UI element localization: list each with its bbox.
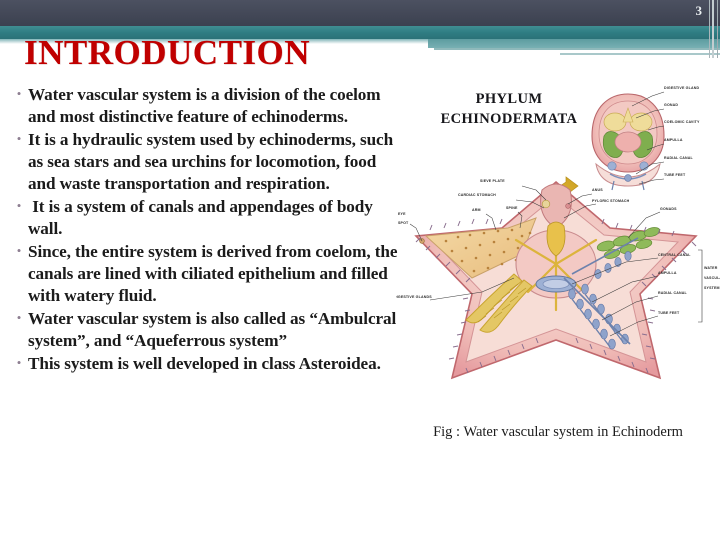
list-item: • Water vascular system is a division of… bbox=[10, 84, 402, 128]
echinoderm-figure: PHYLUM ECHINODERMATA bbox=[396, 78, 720, 438]
bullet-text: Water vascular system is a division of t… bbox=[28, 84, 402, 128]
bullet-marker-icon: • bbox=[10, 241, 28, 261]
starfish-anatomy-diagram: DIGESTIVE GLAND GONAD COELOMIC CAVITY AM… bbox=[396, 78, 720, 438]
label-central-canal: CENTRAL CANAL bbox=[658, 253, 710, 257]
label-gonads: GONADS bbox=[660, 207, 696, 211]
page-number: 3 bbox=[696, 3, 703, 19]
header-dark-band bbox=[0, 0, 720, 26]
label-tube-feet: TUBE FEET bbox=[658, 311, 710, 315]
header-edge-stripes bbox=[706, 0, 720, 58]
label-eye: EYE bbox=[398, 212, 424, 216]
slide: 3 INTRODUCTION • Water vascular system i… bbox=[0, 0, 720, 539]
label-water-vascular-system-line-1: WATER bbox=[704, 266, 720, 270]
label-anus: ANUS bbox=[592, 188, 622, 192]
arm-cross-section-inset bbox=[592, 92, 664, 190]
list-item: • It is a hydraulic system used by echin… bbox=[10, 129, 402, 195]
label-gonad: GONAD bbox=[664, 103, 720, 107]
label-water-vascular-system-line-2: VASCULAR bbox=[704, 276, 720, 280]
bullet-text: It is a hydraulic system used by echinod… bbox=[28, 129, 402, 195]
label-arm: ARM bbox=[472, 208, 498, 212]
bullet-list: • Water vascular system is a division of… bbox=[10, 84, 402, 376]
header-accent-bar bbox=[428, 39, 720, 48]
starfish-body bbox=[416, 182, 696, 378]
list-item: • Since, the entire system is derived fr… bbox=[10, 241, 402, 307]
label-digestive-glands: DIGESTIVE GLANDS bbox=[396, 295, 446, 299]
bullet-marker-icon: • bbox=[10, 353, 28, 373]
list-item: • Water vascular system is also called a… bbox=[10, 308, 402, 352]
bullet-marker-icon: • bbox=[10, 129, 28, 149]
label-ampulla: AMPULLA bbox=[658, 271, 710, 275]
label-spot: SPOT bbox=[398, 221, 424, 225]
bullet-text: This system is well developed in class A… bbox=[28, 353, 402, 375]
bullet-marker-icon: • bbox=[10, 196, 28, 216]
label-coelomic-cavity: COELOMIC CAVITY bbox=[664, 120, 720, 124]
label-spine: SPINE bbox=[506, 206, 532, 210]
bullet-text: Water vascular system is also called as … bbox=[28, 308, 402, 352]
label-ampulla-inset: AMPULLA bbox=[664, 138, 720, 142]
header-accent-line-2 bbox=[560, 53, 720, 55]
label-pyloric-stomach: PYLORIC STOMACH bbox=[592, 199, 652, 203]
bullet-text: Since, the entire system is derived from… bbox=[28, 241, 402, 307]
page-title: INTRODUCTION bbox=[24, 33, 310, 73]
label-water-vascular-system-line-3: SYSTEM bbox=[704, 286, 720, 290]
list-item: • This system is well developed in class… bbox=[10, 353, 402, 375]
label-cardiac-stomach: CARDIAC STOMACH bbox=[458, 193, 518, 197]
bullet-text: It is a system of canals and appendages … bbox=[28, 196, 402, 240]
bullet-marker-icon: • bbox=[10, 308, 28, 328]
bullet-marker-icon: • bbox=[10, 84, 28, 104]
label-radial-canal: RADIAL CANAL bbox=[658, 291, 710, 295]
header-accent-line-1 bbox=[434, 48, 720, 50]
list-item: • It is a system of canals and appendage… bbox=[10, 196, 402, 240]
label-digestive-gland: DIGESTIVE GLAND bbox=[664, 86, 720, 90]
label-sieve-plate: SIEVE PLATE bbox=[480, 179, 524, 183]
label-tube-feet-inset: TUBE FEET bbox=[664, 173, 720, 177]
figure-caption: Fig : Water vascular system in Echinoder… bbox=[396, 424, 720, 441]
label-radial-canal-inset: RADIAL CANAL bbox=[664, 156, 720, 160]
